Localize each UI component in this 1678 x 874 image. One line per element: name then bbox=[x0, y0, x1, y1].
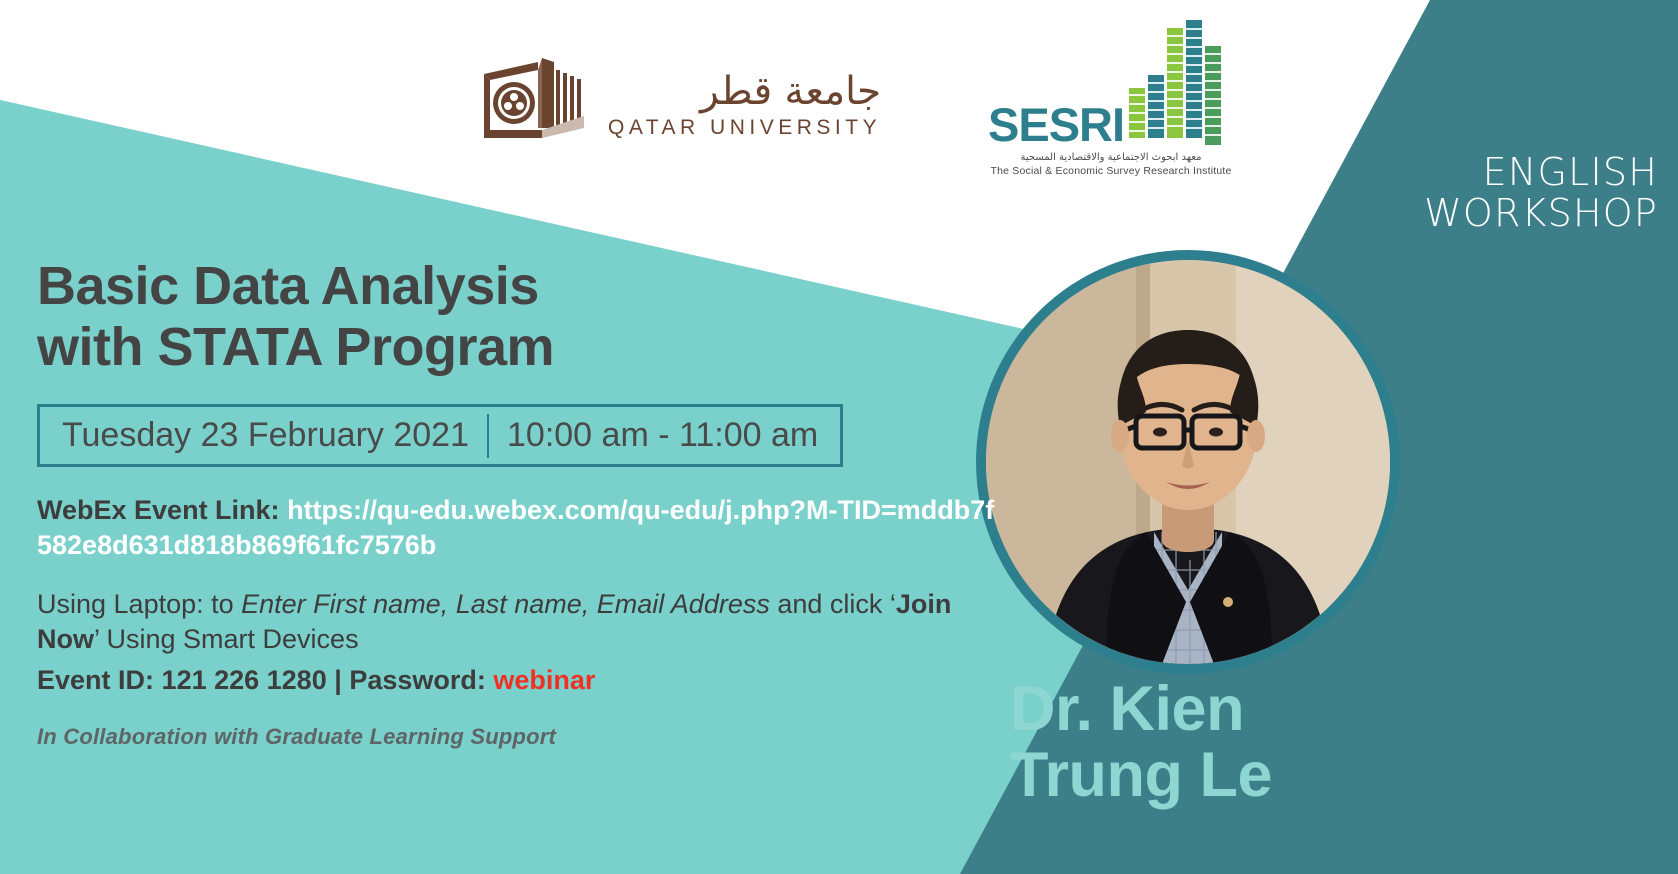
datetime-divider bbox=[487, 414, 489, 458]
badge-line-1: ENGLISH bbox=[1424, 152, 1658, 193]
sesri-acronym: SESRI bbox=[988, 105, 1124, 145]
sesri-logo: SESRI bbox=[988, 25, 1249, 177]
webex-link-label: WebEx Event Link: bbox=[37, 495, 280, 525]
qu-arabic-name: جامعة قطر bbox=[608, 72, 881, 111]
join-instructions: Using Laptop: to Enter First name, Last … bbox=[37, 587, 997, 657]
badge-line-2: WORKSHOP bbox=[1424, 193, 1658, 234]
instructions-suffix: ’ Using Smart Devices bbox=[94, 624, 359, 654]
qu-english-name: QATAR UNIVERSITY bbox=[608, 117, 881, 138]
qatar-university-logo: جامعة قطر QATAR UNIVERSITY bbox=[476, 56, 881, 138]
credentials-divider: | bbox=[334, 665, 342, 695]
event-title-line-2: with STATA Program bbox=[37, 317, 997, 378]
sesri-arabic-name: معهد ابحوث الاجتماعية والاقتصادية المسحي… bbox=[988, 152, 1234, 163]
event-title-line-1: Basic Data Analysis bbox=[37, 256, 997, 317]
event-content: Basic Data Analysis with STATA Program T… bbox=[37, 256, 997, 750]
qatar-university-building-icon bbox=[476, 56, 588, 138]
speaker-name: Dr. Kien Trung Le bbox=[1010, 676, 1630, 808]
instructions-middle: and click ‘ bbox=[770, 589, 896, 619]
event-title: Basic Data Analysis with STATA Program bbox=[37, 256, 997, 378]
speaker-name-line-2: Trung Le bbox=[1010, 742, 1630, 808]
logo-row: جامعة قطر QATAR UNIVERSITY SESRI bbox=[0, 0, 1678, 175]
speaker-name-line-1: Dr. Kien bbox=[1010, 676, 1630, 742]
event-time: 10:00 am - 11:00 am bbox=[507, 416, 818, 455]
event-datetime-box: Tuesday 23 February 2021 10:00 am - 11:0… bbox=[37, 404, 843, 467]
poster-canvas: جامعة قطر QATAR UNIVERSITY SESRI bbox=[0, 0, 1678, 874]
workshop-language-badge: ENGLISH WORKSHOP bbox=[1424, 152, 1658, 234]
password-label: Password: bbox=[349, 665, 486, 695]
instructions-prefix: Using Laptop: to bbox=[37, 589, 241, 619]
event-credentials: Event ID: 121 226 1280 | Password: webin… bbox=[37, 663, 997, 698]
event-id-label: Event ID: bbox=[37, 665, 154, 695]
speaker-portrait bbox=[976, 250, 1400, 674]
webex-link-block: WebEx Event Link: https://qu-edu.webex.c… bbox=[37, 493, 997, 562]
instructions-fields: Enter First name, Last name, Email Addre… bbox=[241, 589, 770, 619]
collaboration-note: In Collaboration with Graduate Learning … bbox=[37, 724, 997, 750]
sesri-english-name: The Social & Economic Survey Research In… bbox=[988, 165, 1234, 177]
sesri-people-bars-icon bbox=[1129, 25, 1249, 145]
event-date: Tuesday 23 February 2021 bbox=[62, 416, 469, 455]
password-value: webinar bbox=[493, 665, 595, 695]
qatar-university-wordmark: جامعة قطر QATAR UNIVERSITY bbox=[608, 72, 881, 138]
event-id-value: 121 226 1280 bbox=[162, 665, 327, 695]
